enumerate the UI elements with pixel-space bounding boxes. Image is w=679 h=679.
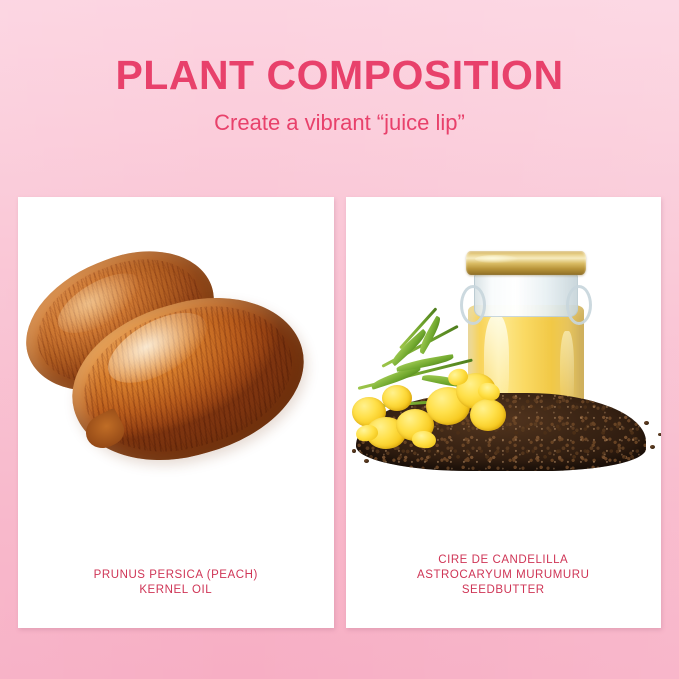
rapeseed-flower-cluster	[352, 325, 522, 453]
ingredient-card-peach-kernel-oil[interactable]: PRUNUS PERSICA (PEACH) KERNEL OIL	[18, 197, 334, 628]
jar-neck	[474, 273, 578, 317]
ingredient-card-candelilla-murumuru[interactable]: CIRE DE CANDELILLA ASTROCARYUM MURUMURU …	[346, 197, 662, 628]
scattered-seed	[364, 459, 369, 463]
banner-header: PLANT COMPOSITION Create a vibrant “juic…	[0, 0, 679, 134]
almond-tip	[80, 408, 129, 455]
jar-gold-lid	[466, 251, 586, 275]
caption-line: KERNEL OIL	[18, 583, 334, 598]
caption-line: PRUNUS PERSICA (PEACH)	[18, 568, 334, 583]
caption-line: SEEDBUTTER	[346, 583, 662, 598]
oil-jar-image	[346, 197, 662, 553]
flower-blossom	[382, 385, 412, 411]
caption-line: ASTROCARYUM MURUMURU	[346, 568, 662, 583]
flower-petal	[411, 430, 437, 449]
page-subtitle: Create a vibrant “juice lip”	[0, 96, 679, 134]
scattered-seed	[658, 433, 662, 436]
card-caption-peach-kernel-oil: PRUNUS PERSICA (PEACH) KERNEL OIL	[18, 568, 334, 628]
oil-jar-illustration	[346, 197, 662, 553]
almond-illustration	[18, 197, 334, 568]
almond-image	[18, 197, 334, 568]
scattered-seed	[622, 455, 626, 459]
scattered-seed	[634, 437, 638, 441]
page-title: PLANT COMPOSITION	[0, 0, 679, 96]
scattered-seed	[644, 421, 649, 425]
flower-blossom	[470, 399, 506, 431]
scattered-seed	[650, 445, 655, 449]
plant-composition-banner: PLANT COMPOSITION Create a vibrant “juic…	[0, 0, 679, 679]
jar-clip-right	[566, 285, 592, 325]
card-caption-candelilla-murumuru: CIRE DE CANDELILLA ASTROCARYUM MURUMURU …	[346, 553, 662, 628]
ingredient-card-list: PRUNUS PERSICA (PEACH) KERNEL OIL	[18, 197, 661, 628]
jar-clip-left	[460, 285, 486, 325]
caption-line: CIRE DE CANDELILLA	[346, 553, 662, 568]
